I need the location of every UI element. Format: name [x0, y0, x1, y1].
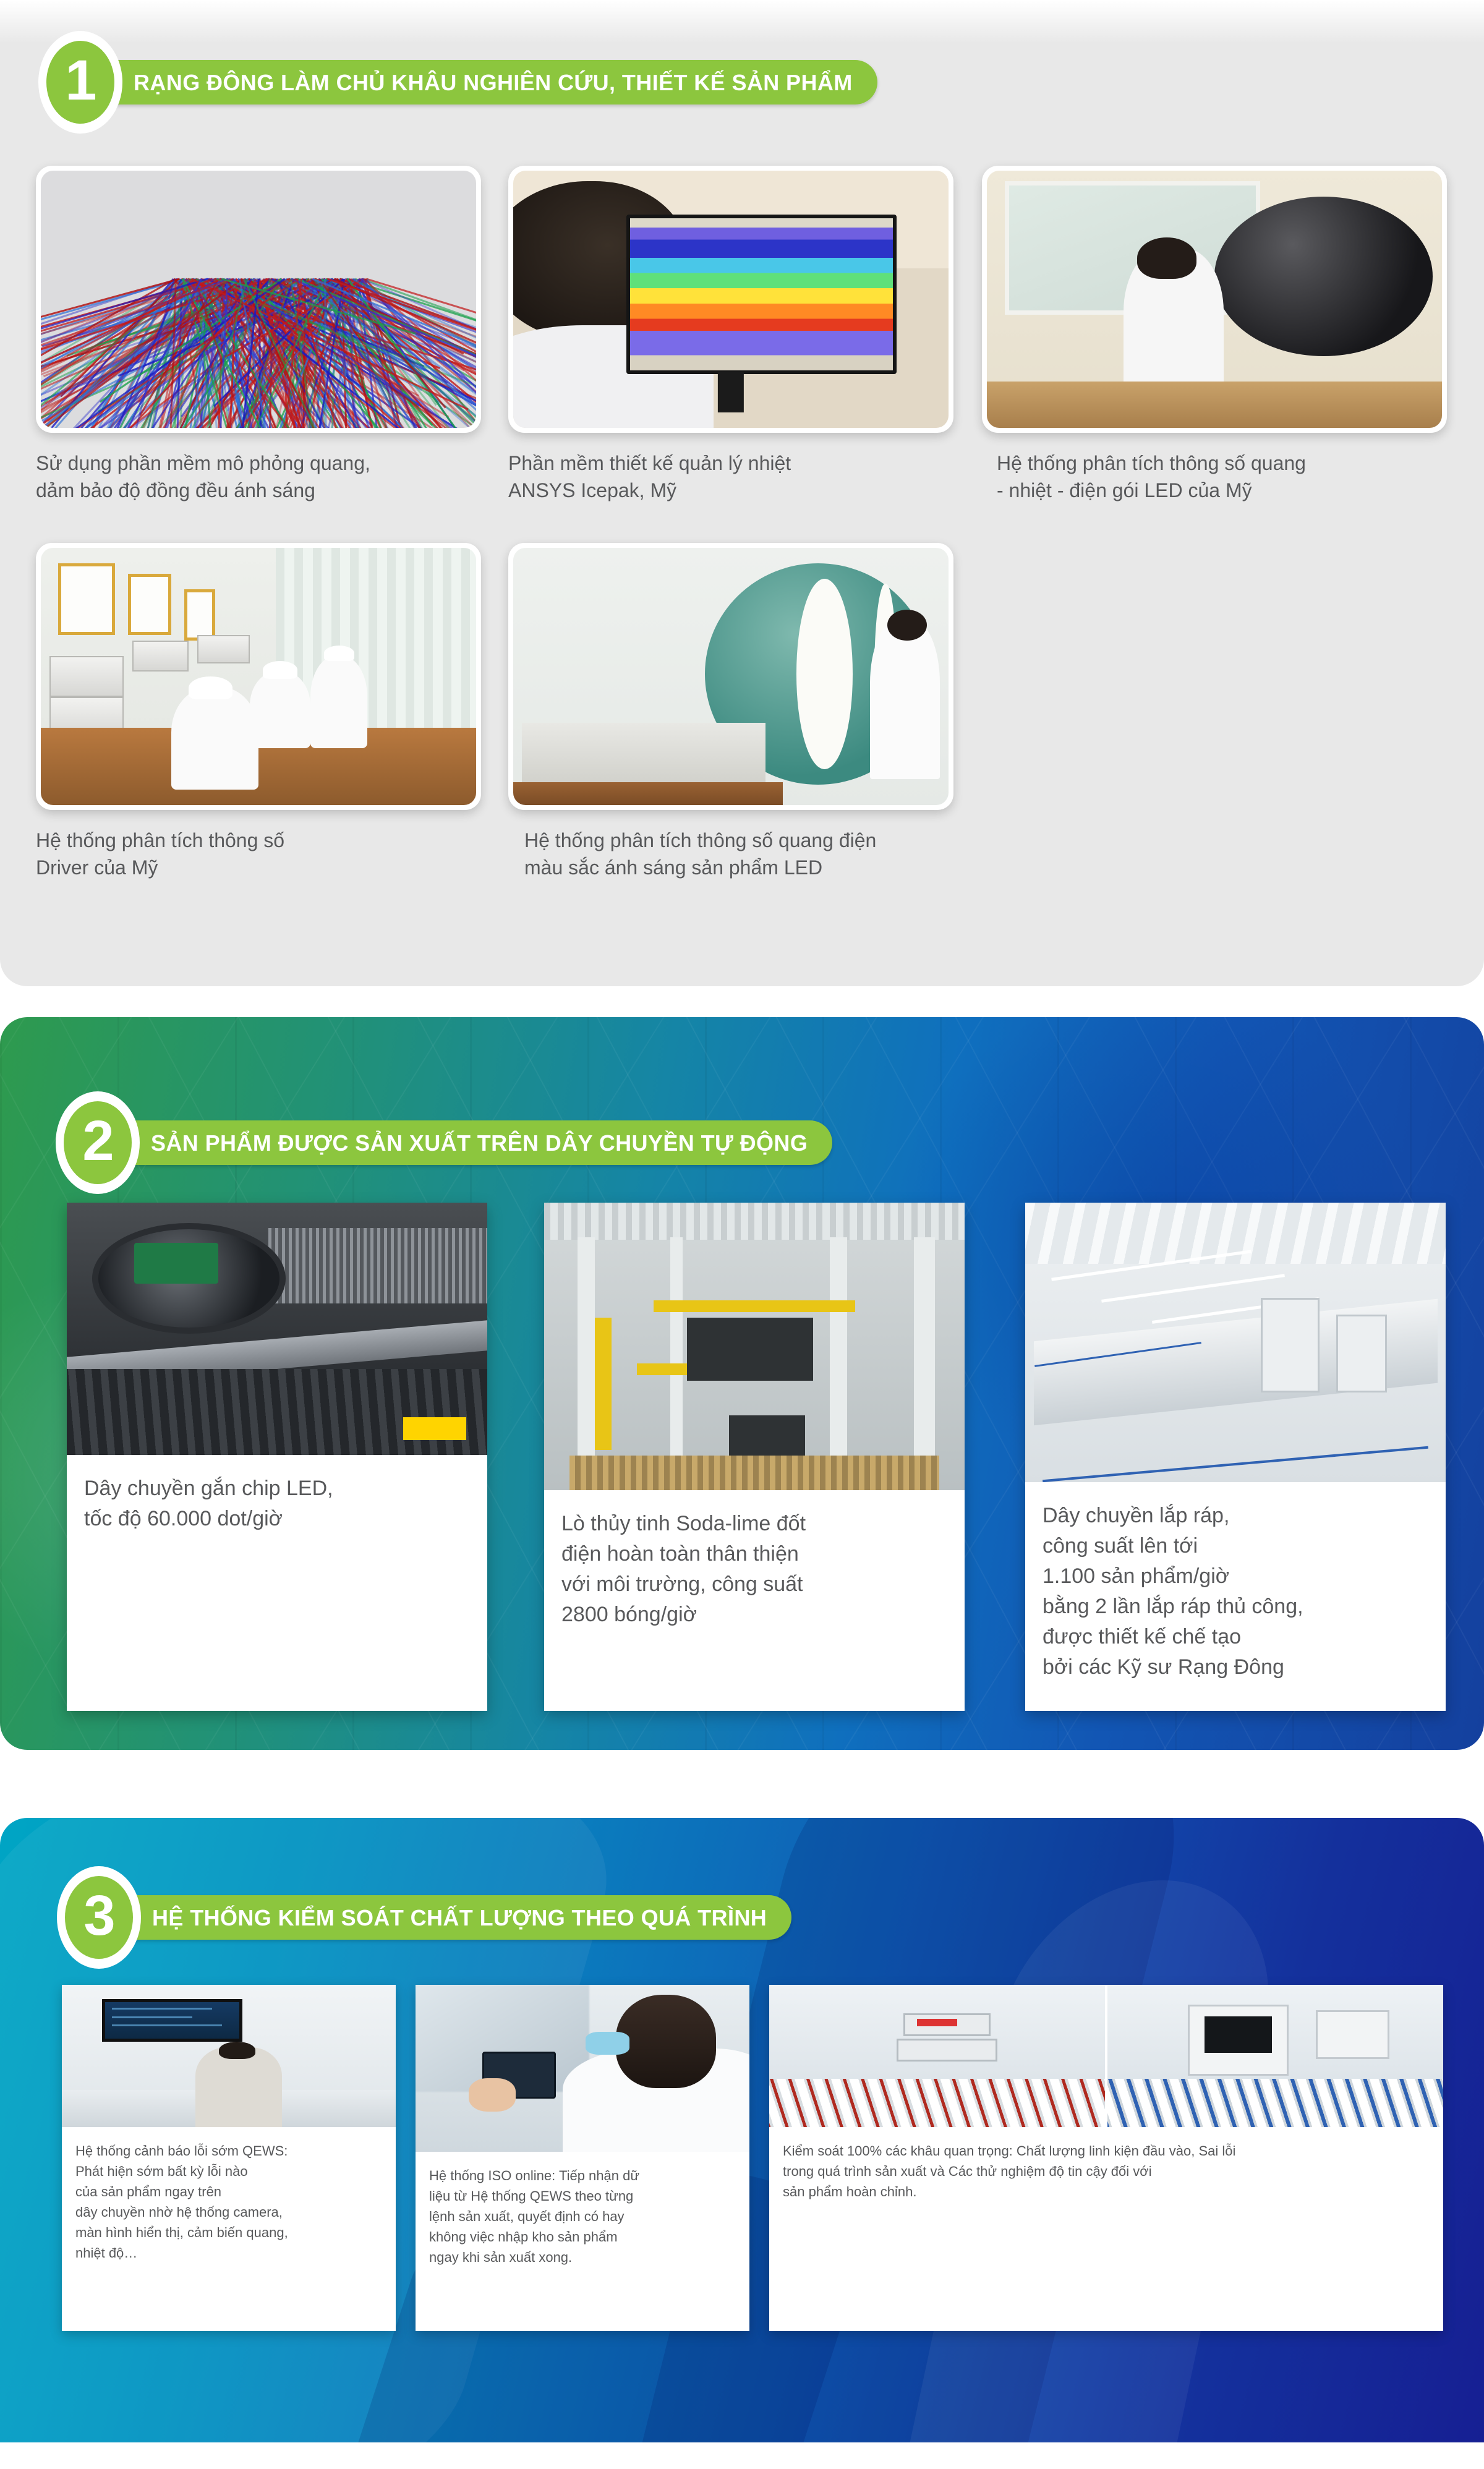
section-3-number: 3 — [83, 1887, 114, 1944]
card-qews: Hệ thống cảnh báo lỗi sớm QEWS: Phát hiệ… — [62, 1985, 396, 2331]
badge-fill: 1 — [46, 41, 114, 124]
badge-fill: 2 — [64, 1101, 132, 1184]
caption-assembly-line: Dây chuyền lắp ráp, công suất lên tới 1.… — [1025, 1482, 1446, 1682]
section-3-title: HỆ THỐNG KIỂM SOÁT CHẤT LƯỢNG THEO QUÁ T… — [152, 1907, 767, 1929]
photo-inspection-and-reliability-testing — [769, 1985, 1443, 2127]
section-1: 1 RẠNG ĐÔNG LÀM CHỦ KHÂU NGHIÊN CỨU, THI… — [0, 0, 1484, 986]
section-1-header: 1 RẠNG ĐÔNG LÀM CHỦ KHÂU NGHIÊN CỨU, THI… — [38, 31, 877, 134]
section-2-title: SẢN PHẨM ĐƯỢC SẢN XUẤT TRÊN DÂY CHUYỀN T… — [151, 1132, 808, 1154]
section-3-number-badge: 3 — [57, 1866, 141, 1969]
card-iso-online: Hệ thống ISO online: Tiếp nhận dữ liệu t… — [416, 1985, 749, 2331]
caption-led-analysis: Hệ thống phân tích thông số quang - nhiệ… — [997, 450, 1467, 504]
caption-led-chip-line: Dây chuyền gắn chip LED, tốc độ 60.000 d… — [67, 1455, 487, 1534]
caption-glass-furnace: Lò thủy tinh Soda-lime đốt điện hoàn toà… — [544, 1490, 965, 1630]
photo-iso-online-tablet — [416, 1985, 749, 2152]
section-3-header: 3 HỆ THỐNG KIỂM SOÁT CHẤT LƯỢNG THEO QUÁ… — [57, 1866, 791, 1969]
section-2-header: 2 SẢN PHẨM ĐƯỢC SẢN XUẤT TRÊN DÂY CHUYỀN… — [56, 1091, 832, 1194]
caption-color-sphere: Hệ thống phân tích thông số quang điện m… — [524, 827, 1031, 881]
photo-color-integrating-sphere-lab — [513, 548, 949, 805]
section-1-title-pill: RẠNG ĐÔNG LÀM CHỦ KHÂU NGHIÊN CỨU, THIẾT… — [94, 60, 877, 104]
section-3-title-pill: HỆ THỐNG KIỂM SOÁT CHẤT LƯỢNG THEO QUÁ T… — [113, 1895, 791, 1940]
photo-roller-inspection — [769, 1985, 1105, 2127]
badge-fill: 3 — [65, 1876, 133, 1959]
caption-ray-trace: Sử dụng phần mềm mô phỏng quang, dảm bảo… — [36, 450, 493, 504]
photo-card-led-analysis — [982, 166, 1447, 433]
photo-soda-lime-glass-furnace — [544, 1203, 965, 1490]
section-3: 3 HỆ THỐNG KIỂM SOÁT CHẤT LƯỢNG THEO QUÁ… — [0, 1818, 1484, 2442]
photo-card-ray-trace — [36, 166, 481, 433]
card-glass-furnace: Lò thủy tinh Soda-lime đốt điện hoàn toà… — [544, 1203, 965, 1711]
section-2: 2 SẢN PHẨM ĐƯỢC SẢN XUẤT TRÊN DÂY CHUYỀN… — [0, 1017, 1484, 1750]
photo-automatic-assembly-line — [1025, 1203, 1446, 1482]
section-2-number-badge: 2 — [56, 1091, 140, 1194]
photo-led-chip-mounting-line — [67, 1203, 487, 1455]
section-1-title: RẠNG ĐÔNG LÀM CHỦ KHÂU NGHIÊN CỨU, THIẾT… — [134, 72, 853, 94]
photo-reliability-testing — [1107, 1985, 1443, 2127]
photo-thermal-design-monitor — [513, 171, 949, 428]
photo-card-thermal-design — [508, 166, 953, 433]
photo-card-driver-lab — [36, 543, 481, 810]
caption-thermal-design: Phần mềm thiết kế quản lý nhiệt ANSYS Ic… — [508, 450, 941, 504]
caption-qews: Hệ thống cảnh báo lỗi sớm QEWS: Phát hiệ… — [62, 2127, 396, 2263]
photo-card-color-sphere — [508, 543, 953, 810]
photo-led-optical-thermal-analysis — [987, 171, 1442, 428]
section-2-number: 2 — [82, 1112, 113, 1169]
photo-qews-early-warning-floor — [62, 1985, 396, 2127]
section-2-title-pill: SẢN PHẨM ĐƯỢC SẢN XUẤT TRÊN DÂY CHUYỀN T… — [111, 1120, 832, 1165]
caption-inspection: Kiểm soát 100% các khâu quan trọng: Chất… — [769, 2127, 1443, 2202]
section-1-number-badge: 1 — [38, 31, 122, 134]
photo-ray-trace-simulation — [41, 171, 476, 428]
section-1-number: 1 — [65, 52, 95, 109]
caption-driver-lab: Hệ thống phân tích thông số Driver của M… — [36, 827, 469, 881]
caption-iso-online: Hệ thống ISO online: Tiếp nhận dữ liệu t… — [416, 2152, 749, 2267]
photo-driver-parameter-lab — [41, 548, 476, 805]
card-assembly-line: Dây chuyền lắp ráp, công suất lên tới 1.… — [1025, 1203, 1446, 1711]
card-led-chip-line: Dây chuyền gắn chip LED, tốc độ 60.000 d… — [67, 1203, 487, 1711]
card-inspection: Kiểm soát 100% các khâu quan trọng: Chất… — [769, 1985, 1443, 2331]
